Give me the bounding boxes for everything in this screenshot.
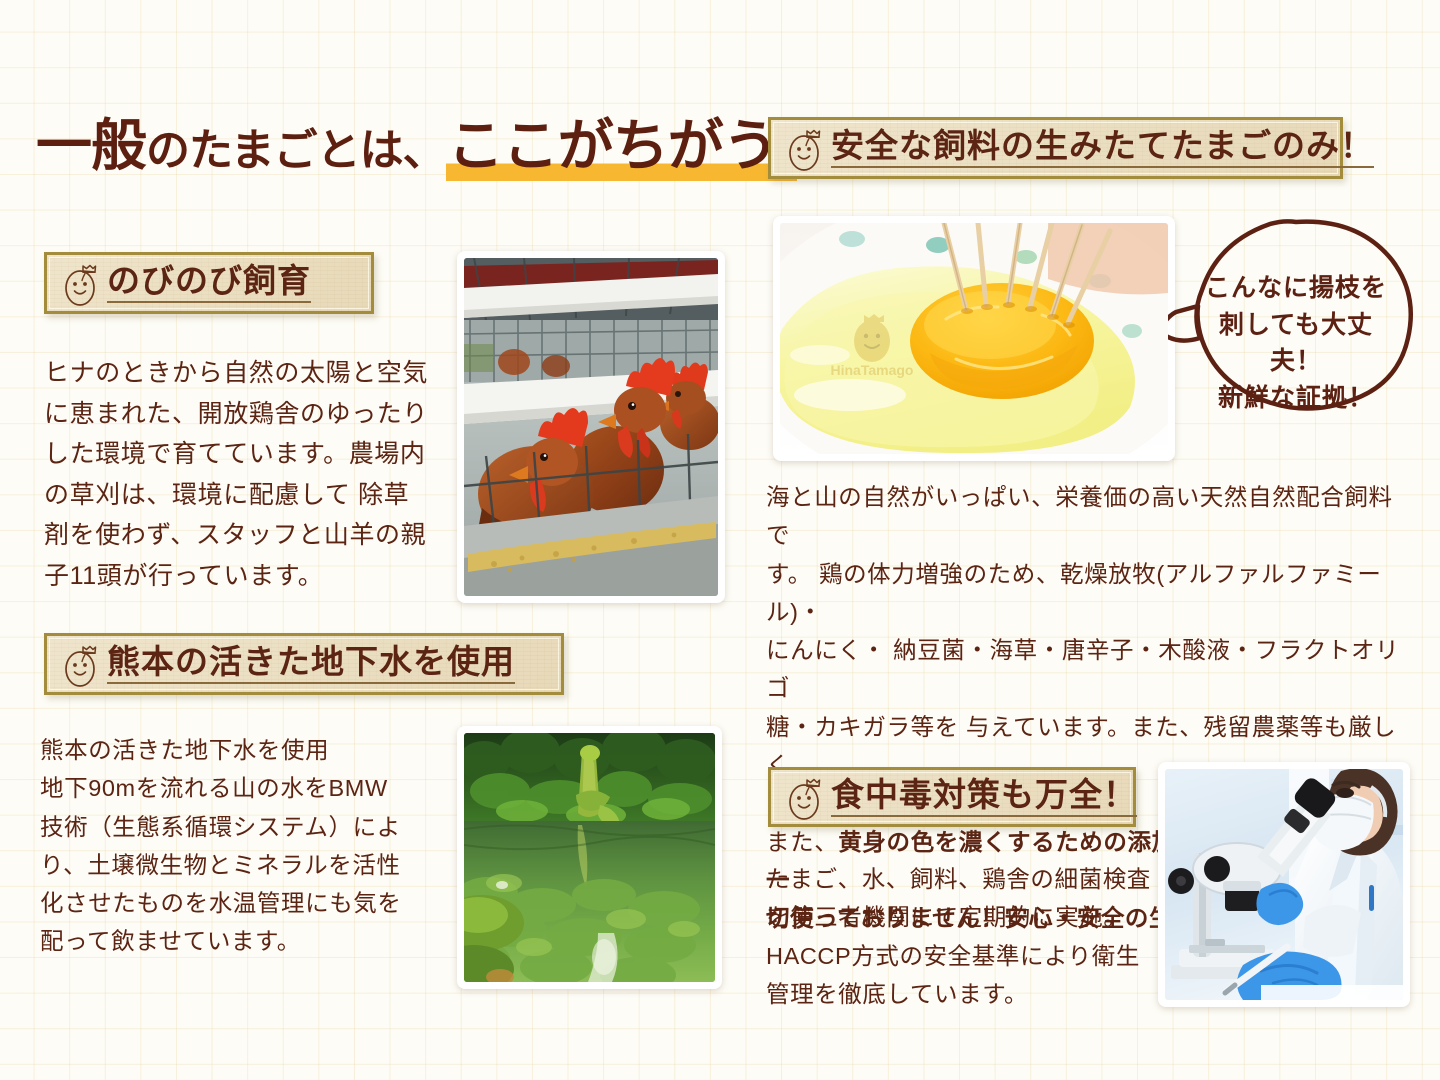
- svg-text:HinaTamago: HinaTamago: [831, 362, 914, 378]
- section-header-safe-feed: 安全な飼料の生みたてたまごのみ！: [768, 117, 1343, 179]
- food-safety-body: たまご、水、飼料、鶏舎の細菌検査 を第三者機関にて定期的に実施。 HACCP方式…: [766, 860, 1166, 1013]
- section-header-label: 熊本の活きた地下水を使用: [107, 642, 515, 685]
- egg-yolk-illustration: HinaTamago: [780, 223, 1168, 454]
- section-header-groundwater: 熊本の活きた地下水を使用: [44, 633, 564, 695]
- speech-bubble: こんなに揚枝を 刺しても大丈夫！ 新鮮な証拠！: [1168, 212, 1420, 462]
- page-title-lead: 一般: [36, 114, 146, 177]
- egg-mascot-icon: [61, 638, 101, 690]
- page-background: 一般のたまごとは、ここがちがう! のびのび飼育 ヒナのときから自然の太陽と空気 …: [0, 0, 1440, 1080]
- speech-bubble-text: こんなに揚枝を 刺しても大丈夫！ 新鮮な証拠！: [1198, 270, 1394, 416]
- egg-mascot-icon: [61, 257, 101, 309]
- chicken-house-illustration: [464, 258, 718, 596]
- photo-chicken-house: [457, 251, 725, 603]
- photo-fresh-egg-yolk: HinaTamago: [773, 216, 1175, 461]
- page-title: 一般のたまごとは、ここがちがう!: [36, 118, 797, 174]
- egg-mascot-icon: [785, 771, 825, 823]
- spring-water-illustration: [464, 733, 715, 982]
- section-header-label: のびのび飼育: [107, 261, 311, 304]
- groundwater-body: 熊本の活きた地下水を使用 地下90mを流れる山の水をBMW 技術（生態系循環シス…: [40, 731, 450, 961]
- section-header-label: 安全な飼料の生みたてたまごのみ！: [831, 126, 1374, 169]
- page-title-mid: のたまごとは、: [146, 126, 446, 175]
- photo-lab-inspection: [1158, 762, 1410, 1007]
- free-range-body: ヒナのときから自然の太陽と空気 に恵まれた、開放鶏舎のゆったり した環境で育てて…: [44, 353, 444, 596]
- section-header-label: 食中毒対策も万全！: [831, 775, 1137, 818]
- page-title-highlight: ここがちがう!: [446, 114, 798, 181]
- section-header-free-range: のびのび飼育: [44, 252, 374, 314]
- section-header-food-safety: 食中毒対策も万全！: [768, 767, 1136, 827]
- photo-spring-water: [457, 726, 722, 989]
- lab-microscope-illustration: [1165, 769, 1403, 1000]
- egg-mascot-icon: [785, 122, 825, 174]
